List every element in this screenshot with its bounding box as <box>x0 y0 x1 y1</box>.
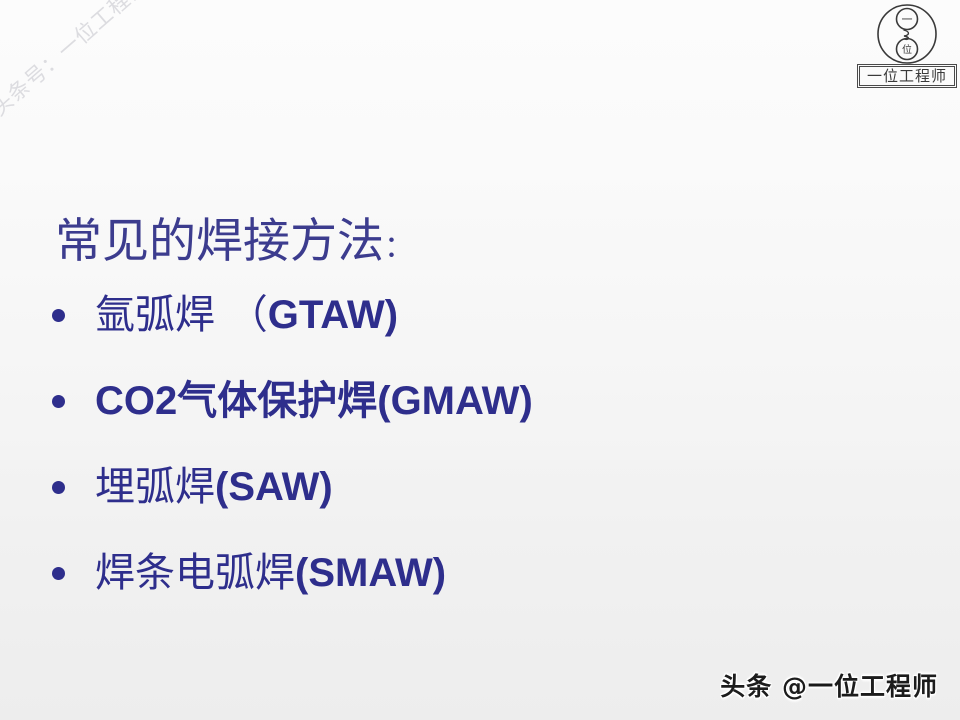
list-item-en: (SAW) <box>215 465 333 509</box>
page-title-text: 常见的焊接方法 <box>55 214 384 269</box>
list-item: 焊条电弧焊(SMAW) <box>52 530 912 616</box>
list-item: 埋弧焊(SAW) <box>52 444 912 530</box>
list-item-cn: 焊条电弧焊 <box>95 550 295 596</box>
logo-bottom-char: 位 <box>902 43 912 56</box>
brand-logo-caption: 一位工程师 <box>859 66 955 86</box>
list-item-cn: 气体保护焊 <box>177 378 377 424</box>
list-item-cn: 氩弧焊 （ <box>95 292 268 338</box>
logo-top-char: 一 <box>902 13 913 26</box>
brand-logo-icon: 一 位 <box>876 3 938 65</box>
bullet-dot-icon <box>52 567 65 580</box>
list-item-en: GTAW) <box>268 293 398 337</box>
list-item-cn: 埋弧焊 <box>95 464 215 510</box>
diagonal-watermark: 头条号：一位工程师 <box>0 0 153 122</box>
bullet-dot-icon <box>52 395 65 408</box>
list-item: CO2气体保护焊(GMAW) <box>52 358 912 444</box>
footer-account-handle: 头条 @一位工程师 <box>720 672 938 702</box>
list-item-label: 氩弧焊 （GTAW) <box>95 290 398 340</box>
bullet-dot-icon <box>52 481 65 494</box>
list-item-en: (SMAW) <box>295 551 446 595</box>
list-item-label: 埋弧焊(SAW) <box>95 462 333 512</box>
list-item-label: 焊条电弧焊(SMAW) <box>95 548 446 598</box>
list-item-prefix: CO2 <box>95 379 177 423</box>
list-item-en: (GMAW) <box>377 379 533 423</box>
slide-canvas: 头条号：一位工程师 一 位 一位工程师 常见的焊接方法： 氩弧焊 （GTAW) … <box>0 0 960 720</box>
page-title: 常见的焊接方法： <box>55 213 414 277</box>
list-item: 氩弧焊 （GTAW) <box>52 272 912 358</box>
brand-logo-block: 一 位 一位工程师 <box>857 3 957 86</box>
bullet-dot-icon <box>52 309 65 322</box>
welding-method-list: 氩弧焊 （GTAW) CO2气体保护焊(GMAW) 埋弧焊(SAW) 焊条电弧焊… <box>52 272 912 616</box>
list-item-label: CO2气体保护焊(GMAW) <box>95 376 533 426</box>
page-title-colon: ： <box>384 230 414 265</box>
